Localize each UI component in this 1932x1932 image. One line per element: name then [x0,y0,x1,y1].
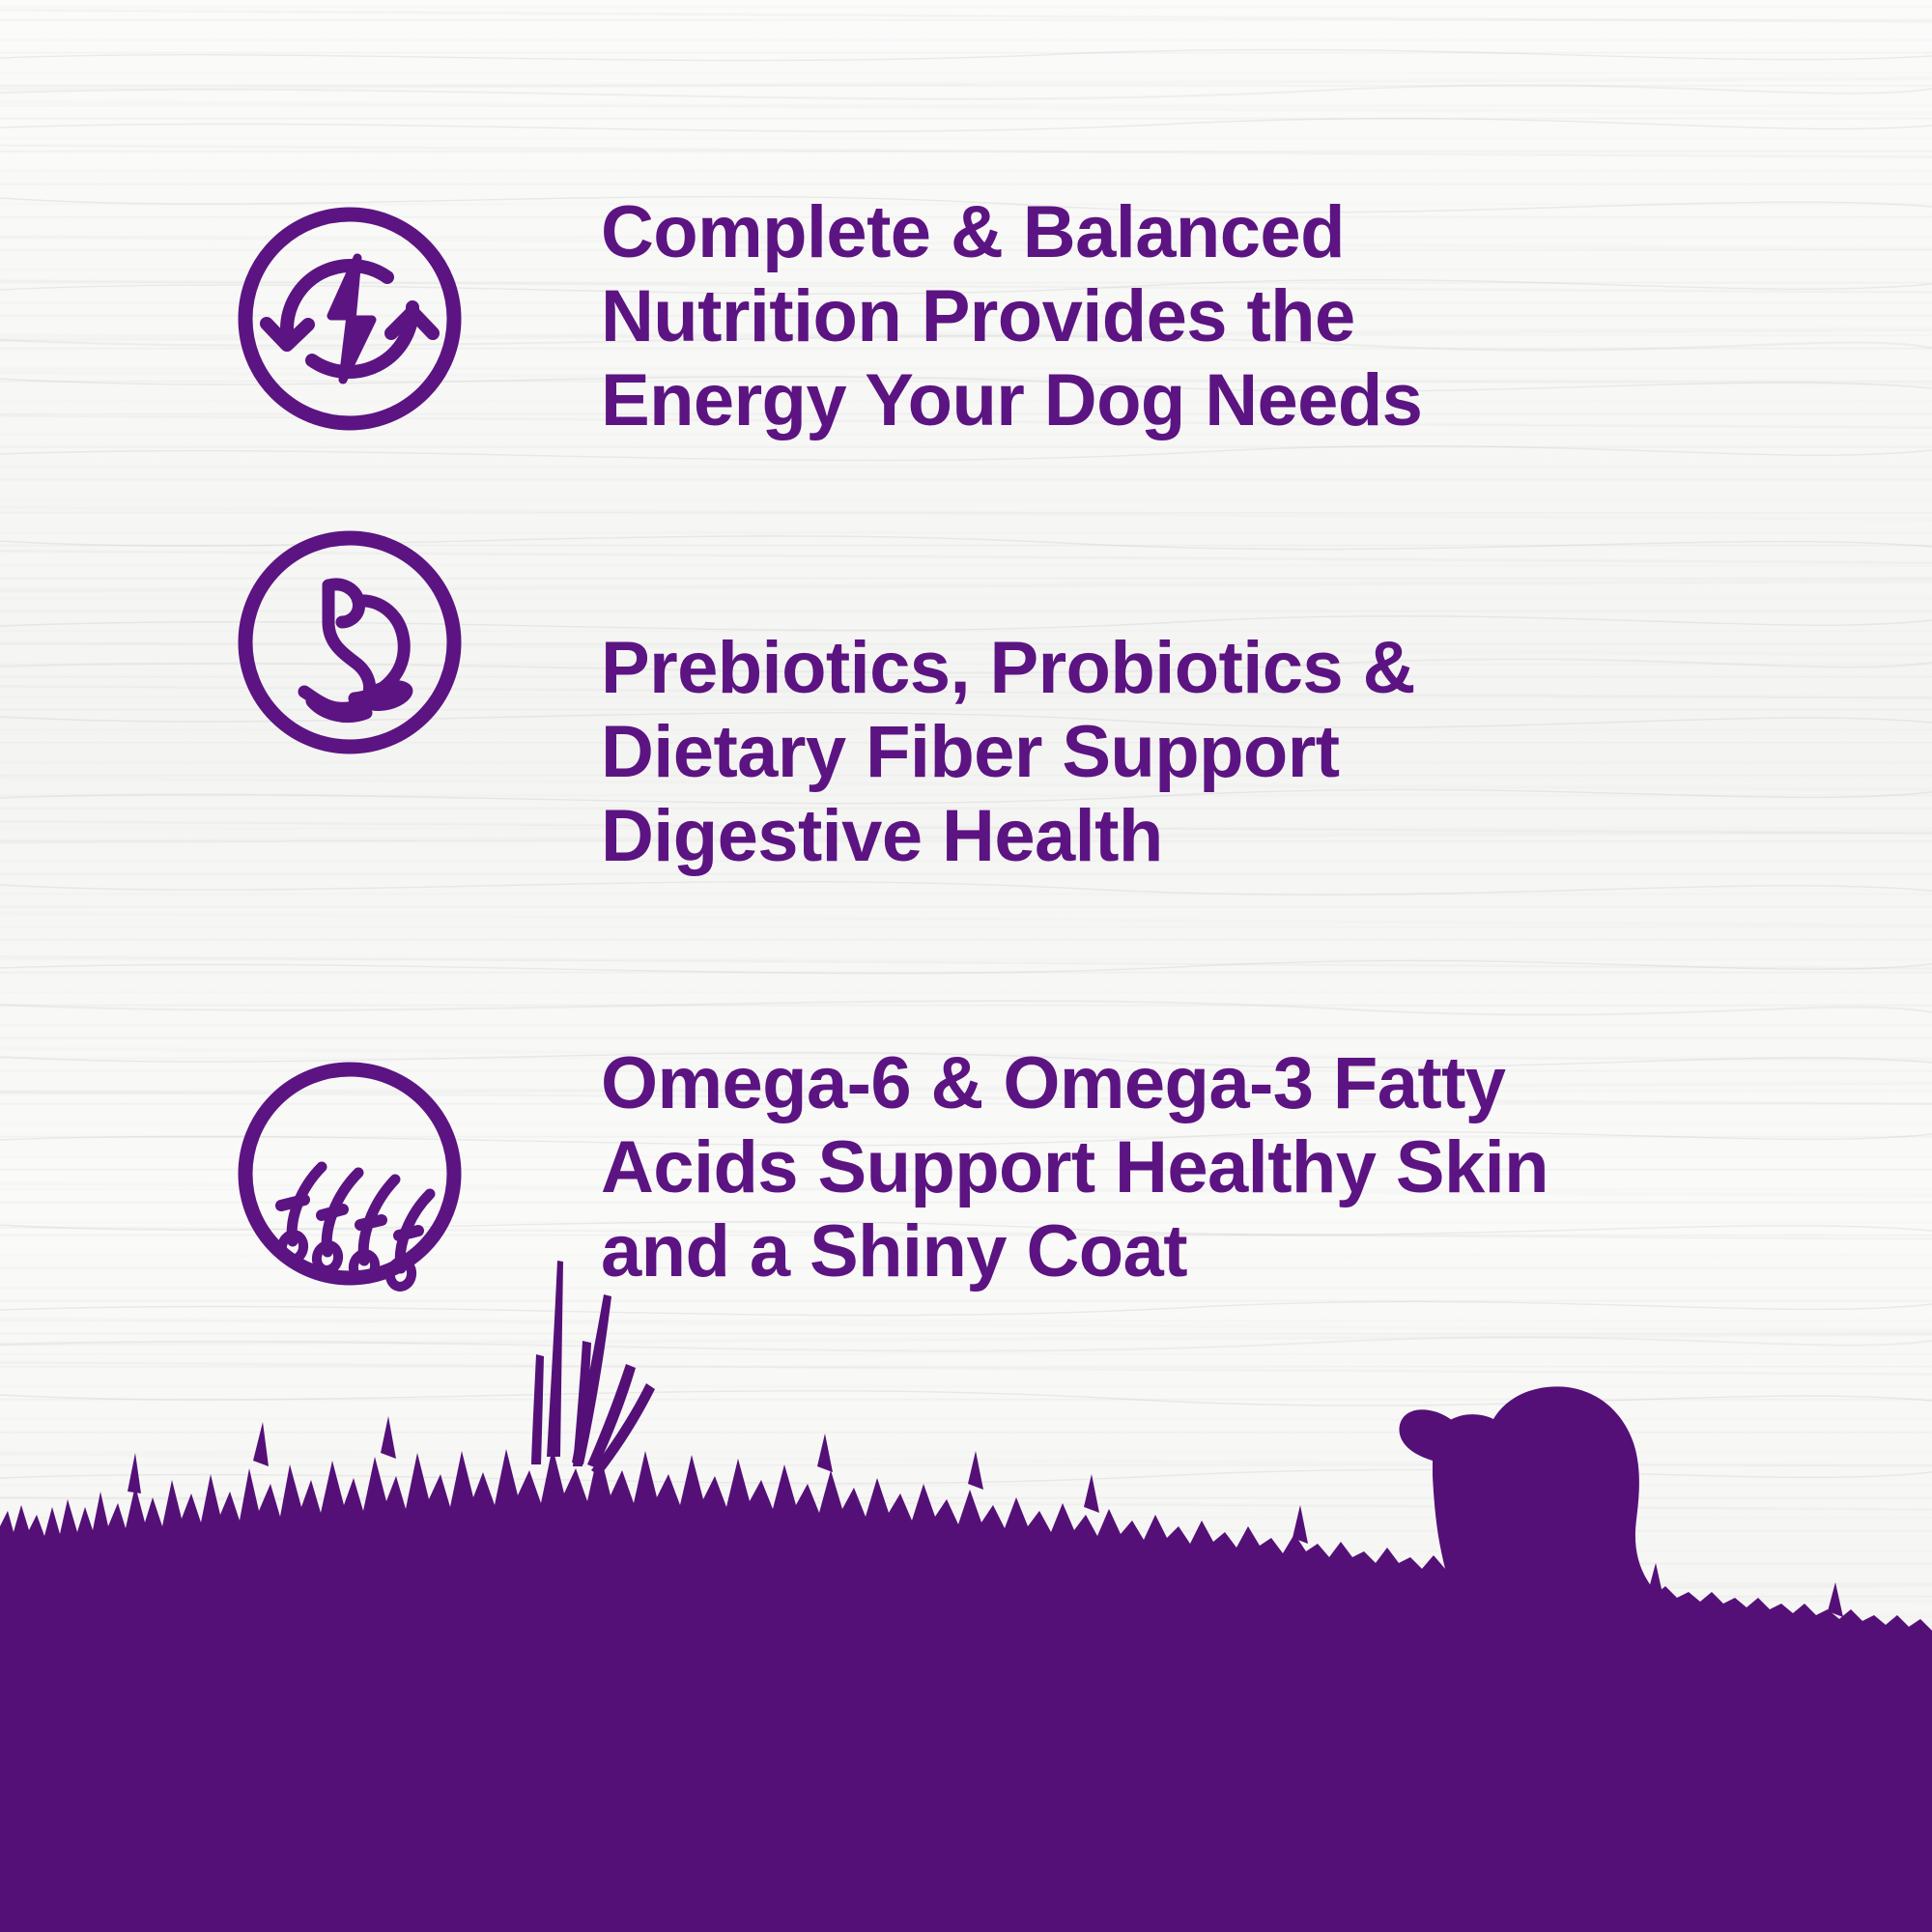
benefit-text-2: Prebiotics, Probiotics & Dietary Fiber S… [601,626,1415,878]
benefit-icon-2 [229,522,470,763]
benefit-icon-1 [229,198,470,440]
benefit-text-3: Omega-6 & Omega-3 Fatty Acids Support He… [601,1041,1548,1293]
benefit-text-1: Complete & Balanced Nutrition Provides t… [601,190,1422,442]
benefit-icon-3 [229,1053,470,1294]
promo-banner: Complete & Balanced Nutrition Provides t… [0,0,1932,1932]
energy-cycle-icon [229,198,470,440]
hair-follicle-icon [229,1053,470,1294]
stomach-icon [229,522,470,763]
